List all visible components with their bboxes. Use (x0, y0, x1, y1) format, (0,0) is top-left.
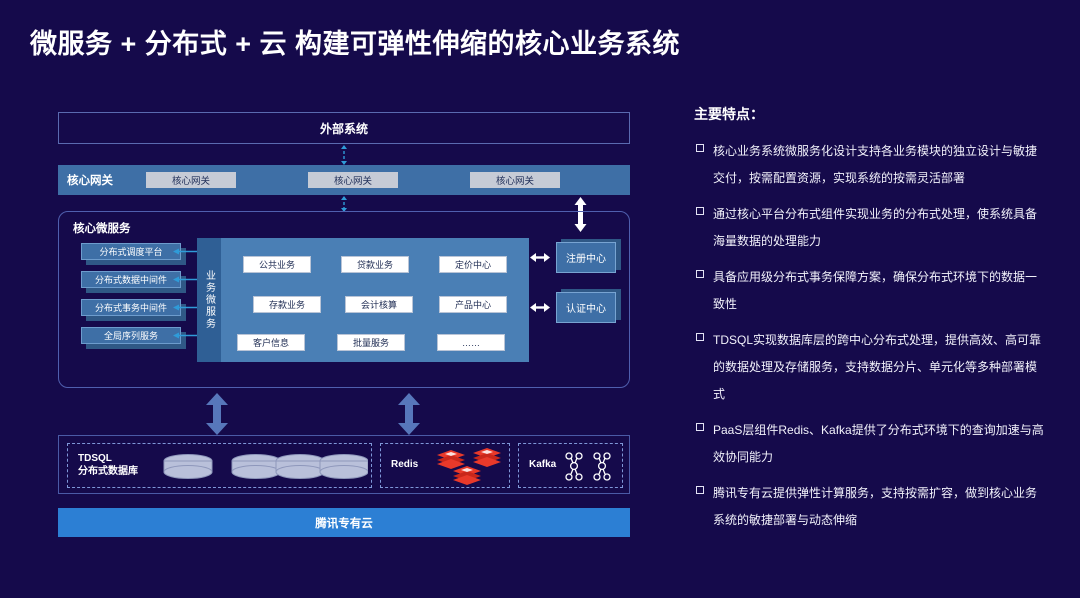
database-cylinders-icon (163, 453, 368, 481)
redis-label: Redis (391, 459, 418, 472)
feature-item: 核心业务系统微服务化设计支持各业务模块的独立设计与敏捷交付，按需配置资源，实现系… (694, 138, 1046, 192)
side-component-box: 分布式数据中间件 (81, 271, 181, 288)
square-bullet-icon (696, 144, 704, 152)
service-box: 客户信息 (237, 334, 305, 351)
service-box: …… (437, 334, 505, 351)
feature-item: TDSQL实现数据库层的跨中心分布式处理，提供高效、高可靠的数据处理及存储服务，… (694, 327, 1046, 408)
kafka-icon (565, 452, 617, 482)
connector-gateway-microservices-icon (337, 196, 351, 212)
feature-text: 具备应用级分布式事务保障方案，确保分布式环境下的数据一致性 (713, 264, 1046, 318)
feature-text: TDSQL实现数据库层的跨中心分布式处理，提供高效、高可靠的数据处理及存储服务，… (713, 327, 1046, 408)
gateway-chip: 核心网关 (470, 172, 560, 188)
tdsql-label: TDSQL 分布式数据库 (78, 453, 138, 478)
feature-text: 腾讯专有云提供弹性计算服务，支持按需扩容，做到核心业务系统的敏捷部署与动态伸缩 (713, 480, 1046, 534)
features-title: 主要特点： (694, 104, 1046, 124)
service-box: 批量服务 (337, 334, 405, 351)
square-bullet-icon (696, 486, 704, 494)
business-microservice-band: 业务微服务 (197, 238, 221, 362)
aux-component-box: 注册中心 (556, 242, 616, 273)
features-panel: 主要特点： 核心业务系统微服务化设计支持各业务模块的独立设计与敏捷交付，按需配置… (694, 104, 1046, 543)
page-title: 微服务 + 分布式 + 云 构建可弹性伸缩的核心业务系统 (30, 22, 680, 61)
kafka-label: Kafka (529, 459, 556, 472)
gateway-chip: 核心网关 (146, 172, 236, 188)
double-arrow-icon (530, 302, 550, 313)
feature-item: 通过核心平台分布式组件实现业务的分布式处理，使系统具备海量数据的处理能力 (694, 201, 1046, 255)
redis-icon (433, 448, 503, 488)
core-microservices-panel: 核心微服务 分布式调度平台 分布式数据中间件 分布式事务中间件 全局序列服务 (58, 211, 630, 388)
service-box: 贷款业务 (341, 256, 409, 273)
square-bullet-icon (696, 333, 704, 341)
square-bullet-icon (696, 270, 704, 278)
service-box: 产品中心 (439, 296, 507, 313)
private-cloud-label: 腾讯专有云 (315, 515, 373, 531)
layer-link-arrow-icon (206, 393, 228, 435)
gateway-chip: 核心网关 (308, 172, 398, 188)
square-bullet-icon (696, 423, 704, 431)
aux-component-box: 认证中心 (556, 292, 616, 323)
core-gateway-title: 核心网关 (67, 172, 139, 188)
external-system-box: 外部系统 (58, 112, 630, 144)
slide-root: 微服务 + 分布式 + 云 构建可弹性伸缩的核心业务系统 外部系统 核心网关 核… (0, 0, 1080, 598)
redis-box: Redis (380, 443, 510, 488)
connector-external-gateway-icon (337, 145, 351, 165)
feature-text: 核心业务系统微服务化设计支持各业务模块的独立设计与敏捷交付，按需配置资源，实现系… (713, 138, 1046, 192)
feature-item: 腾讯专有云提供弹性计算服务，支持按需扩容，做到核心业务系统的敏捷部署与动态伸缩 (694, 480, 1046, 534)
architecture-diagram: 外部系统 核心网关 核心网关 核心网关 核心网关 核心 (58, 112, 630, 537)
data-layer: TDSQL 分布式数据库 Redis (58, 435, 630, 494)
square-bullet-icon (696, 207, 704, 215)
service-grid: 公共业务 贷款业务 定价中心 存款业务 会计核算 产品中心 客户信息 批量服务 … (221, 238, 529, 362)
service-box: 会计核算 (345, 296, 413, 313)
core-microservices-title: 核心微服务 (73, 220, 131, 236)
private-cloud-bar: 腾讯专有云 (58, 508, 630, 537)
side-component-box: 分布式事务中间件 (81, 299, 181, 316)
service-box: 公共业务 (243, 256, 311, 273)
feature-text: 通过核心平台分布式组件实现业务的分布式处理，使系统具备海量数据的处理能力 (713, 201, 1046, 255)
side-component-box: 分布式调度平台 (81, 243, 181, 260)
service-box: 定价中心 (439, 256, 507, 273)
feature-text: PaaS层组件Redis、Kafka提供了分布式环境下的查询加速与高效协同能力 (713, 417, 1046, 471)
tdsql-box: TDSQL 分布式数据库 (67, 443, 372, 488)
core-gateway-bar: 核心网关 核心网关 核心网关 核心网关 (58, 165, 630, 195)
kafka-box: Kafka (518, 443, 623, 488)
service-box: 存款业务 (253, 296, 321, 313)
feature-item: PaaS层组件Redis、Kafka提供了分布式环境下的查询加速与高效协同能力 (694, 417, 1046, 471)
double-arrow-icon (530, 252, 550, 263)
feature-item: 具备应用级分布式事务保障方案，确保分布式环境下的数据一致性 (694, 264, 1046, 318)
external-system-label: 外部系统 (320, 120, 368, 137)
layer-link-arrow-icon (398, 393, 420, 435)
side-component-box: 全局序列服务 (81, 327, 181, 344)
